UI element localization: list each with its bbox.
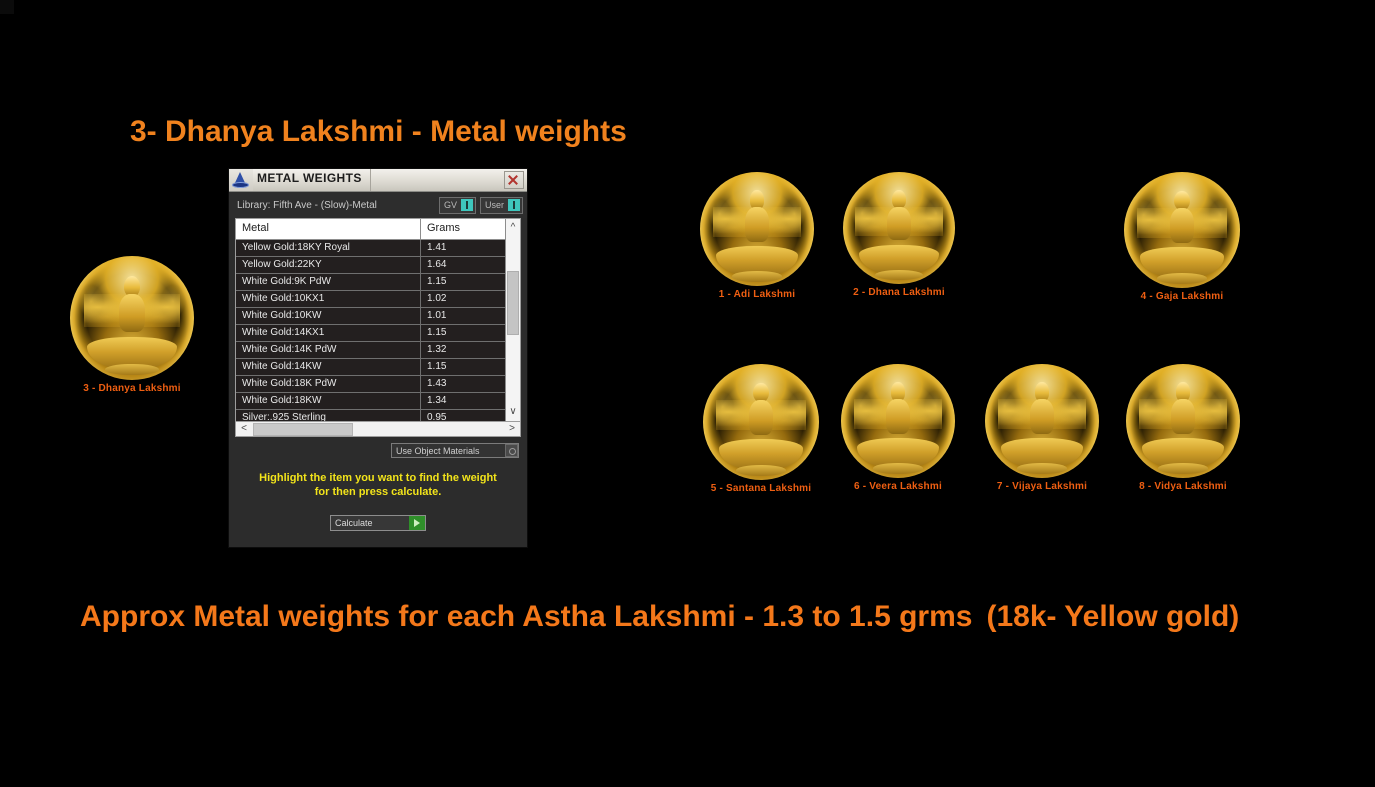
medallion-image <box>703 364 819 480</box>
calculate-row: Calculate <box>229 515 527 531</box>
lotus-base <box>1001 438 1083 469</box>
medallion-item: 7 - Vijaya Lakshmi <box>985 364 1099 492</box>
vertical-scrollbar-thumb[interactable] <box>507 271 519 335</box>
user-toggle[interactable]: User <box>480 197 523 214</box>
cell-grams: 1.15 <box>421 325 505 341</box>
column-header-grams[interactable]: Grams <box>421 219 505 239</box>
deity-figure-icon <box>985 364 1099 478</box>
deity-body <box>745 207 769 241</box>
chevron-down-icon[interactable]: ∨ <box>506 405 520 419</box>
table-row[interactable]: White Gold:18KW1.34 <box>236 393 505 410</box>
deity-figure-icon <box>1124 172 1240 288</box>
footer-caption-part2: (18k- Yellow gold) <box>986 600 1239 633</box>
featured-medallion-label: 3 - Dhanya Lakshmi <box>70 383 194 394</box>
medallion-label: 2 - Dhana Lakshmi <box>843 287 955 298</box>
gv-toggle-switch[interactable] <box>461 199 473 211</box>
deity-figure-icon <box>843 172 955 284</box>
medallion-item: 4 - Gaja Lakshmi <box>1124 172 1240 302</box>
cell-grams: 1.01 <box>421 308 505 324</box>
cell-metal: White Gold:9K PdW <box>236 274 421 290</box>
dialog-title: METAL WEIGHTS <box>253 169 371 191</box>
library-bar: Library: Fifth Ave - (Slow)-Metal GV Use… <box>229 192 527 218</box>
table-row[interactable]: White Gold:14KW1.15 <box>236 359 505 376</box>
cell-grams: 1.02 <box>421 291 505 307</box>
footer-caption-part1: Approx Metal weights for each Astha Laks… <box>80 600 972 633</box>
cell-grams: 1.15 <box>421 359 505 375</box>
library-label: Library: Fifth Ave - (Slow)-Metal <box>237 200 435 211</box>
deity-body <box>119 294 145 331</box>
deity-figure-icon <box>1126 364 1240 478</box>
cell-metal: White Gold:14KW <box>236 359 421 375</box>
medallion-label: 1 - Adi Lakshmi <box>700 289 814 300</box>
table-row[interactable]: White Gold:14K PdW1.32 <box>236 342 505 359</box>
lotus-base <box>87 337 176 370</box>
cell-grams: 1.64 <box>421 257 505 273</box>
medallion-item: 6 - Veera Lakshmi <box>841 364 955 492</box>
medallion-image <box>985 364 1099 478</box>
calculate-button-label: Calculate <box>331 518 409 528</box>
cell-metal: White Gold:14KX1 <box>236 325 421 341</box>
lotus-base <box>857 438 939 469</box>
cell-metal: Yellow Gold:18KY Royal <box>236 240 421 256</box>
cell-grams: 1.43 <box>421 376 505 392</box>
column-header-metal[interactable]: Metal <box>236 219 421 239</box>
close-icon[interactable] <box>504 171 524 189</box>
lotus-base <box>716 246 798 277</box>
table-header-row: Metal Grams <box>236 219 505 240</box>
matrix-cone-icon <box>229 169 253 191</box>
table-row[interactable]: White Gold:18K PdW1.43 <box>236 376 505 393</box>
page-title: 3- Dhanya Lakshmi - Metal weights <box>130 115 627 149</box>
medallion-image <box>700 172 814 286</box>
titlebar-filler <box>371 169 504 191</box>
medallion-label: 5 - Santana Lakshmi <box>703 483 819 494</box>
table-row[interactable]: Yellow Gold:18KY Royal1.41 <box>236 240 505 257</box>
cell-metal: White Gold:18K PdW <box>236 376 421 392</box>
cell-metal: White Gold:18KW <box>236 393 421 409</box>
medallion-label: 4 - Gaja Lakshmi <box>1124 291 1240 302</box>
metal-weights-dialog: METAL WEIGHTS Library: Fifth Ave - (Slow… <box>228 168 528 548</box>
deity-figure-icon <box>700 172 814 286</box>
user-toggle-label: User <box>483 200 508 210</box>
cell-metal: Silver:.925 Sterling <box>236 410 421 421</box>
lotus-base <box>1142 438 1224 469</box>
horizontal-scrollbar-thumb[interactable] <box>253 423 353 436</box>
table-row[interactable]: White Gold:10KX11.02 <box>236 291 505 308</box>
metal-weights-table: Metal Grams Yellow Gold:18KY Royal1.41Ye… <box>235 218 521 422</box>
play-arrow-icon[interactable] <box>409 516 425 530</box>
footer-caption: Approx Metal weights for each Astha Laks… <box>80 600 1239 634</box>
cell-metal: Yellow Gold:22KY <box>236 257 421 273</box>
medallion-image <box>1126 364 1240 478</box>
cell-grams: 1.15 <box>421 274 505 290</box>
cell-grams: 0.95 <box>421 410 505 421</box>
user-toggle-switch[interactable] <box>508 199 520 211</box>
deity-figure-icon <box>70 256 194 380</box>
table-row[interactable]: White Gold:10KW1.01 <box>236 308 505 325</box>
medallion-label: 6 - Veera Lakshmi <box>841 481 955 492</box>
cell-grams: 1.41 <box>421 240 505 256</box>
use-object-materials-row: Use Object Materials <box>229 437 527 458</box>
medallion-image <box>70 256 194 380</box>
medallion-item: 5 - Santana Lakshmi <box>703 364 819 494</box>
chevron-right-icon[interactable]: > <box>505 422 519 435</box>
deity-body <box>1171 399 1195 433</box>
dialog-titlebar[interactable]: METAL WEIGHTS <box>229 169 527 192</box>
deity-body <box>749 400 773 435</box>
settings-knob-icon[interactable] <box>505 444 518 457</box>
deity-body <box>1170 208 1194 243</box>
background-patch <box>0 0 14 14</box>
table-row[interactable]: White Gold:9K PdW1.15 <box>236 274 505 291</box>
vertical-scrollbar[interactable]: ^ ∨ <box>505 219 520 421</box>
chevron-up-icon[interactable]: ^ <box>506 221 520 235</box>
lotus-base <box>719 439 803 470</box>
lotus-base <box>859 245 940 275</box>
cell-metal: White Gold:14K PdW <box>236 342 421 358</box>
deity-figure-icon <box>703 364 819 480</box>
gv-toggle-label: GV <box>442 200 461 210</box>
medallion-item: 1 - Adi Lakshmi <box>700 172 814 300</box>
hint-line-2: for then press calculate. <box>243 485 513 499</box>
horizontal-scrollbar[interactable]: < > <box>235 422 521 437</box>
cell-grams: 1.34 <box>421 393 505 409</box>
cell-metal: White Gold:10KX1 <box>236 291 421 307</box>
deity-figure-icon <box>841 364 955 478</box>
use-object-materials-button[interactable]: Use Object Materials <box>391 443 519 458</box>
medallion-item: 8 - Vidya Lakshmi <box>1126 364 1240 492</box>
hint-text: Highlight the item you want to find the … <box>243 471 513 499</box>
deity-body <box>886 399 910 433</box>
table-row[interactable]: White Gold:14KX11.15 <box>236 325 505 342</box>
lotus-base <box>1140 247 1224 278</box>
medallion-label: 7 - Vijaya Lakshmi <box>985 481 1099 492</box>
deity-body <box>1030 399 1054 433</box>
cell-grams: 1.32 <box>421 342 505 358</box>
table-rows-container: Yellow Gold:18KY Royal1.41Yellow Gold:22… <box>236 240 505 421</box>
deity-body <box>887 207 911 241</box>
hint-line-1: Highlight the item you want to find the … <box>243 471 513 485</box>
use-object-materials-label: Use Object Materials <box>392 446 505 456</box>
medallion-image <box>843 172 955 284</box>
featured-medallion: 3 - Dhanya Lakshmi <box>70 256 194 394</box>
calculate-button[interactable]: Calculate <box>330 515 426 531</box>
gv-toggle[interactable]: GV <box>439 197 476 214</box>
table-row[interactable]: Silver:.925 Sterling0.95 <box>236 410 505 421</box>
cell-metal: White Gold:10KW <box>236 308 421 324</box>
medallion-item: 2 - Dhana Lakshmi <box>843 172 955 298</box>
medallion-image <box>1124 172 1240 288</box>
table-row[interactable]: Yellow Gold:22KY1.64 <box>236 257 505 274</box>
table-body: Metal Grams Yellow Gold:18KY Royal1.41Ye… <box>236 219 505 421</box>
medallion-image <box>841 364 955 478</box>
chevron-left-icon[interactable]: < <box>237 422 251 435</box>
medallion-label: 8 - Vidya Lakshmi <box>1126 481 1240 492</box>
